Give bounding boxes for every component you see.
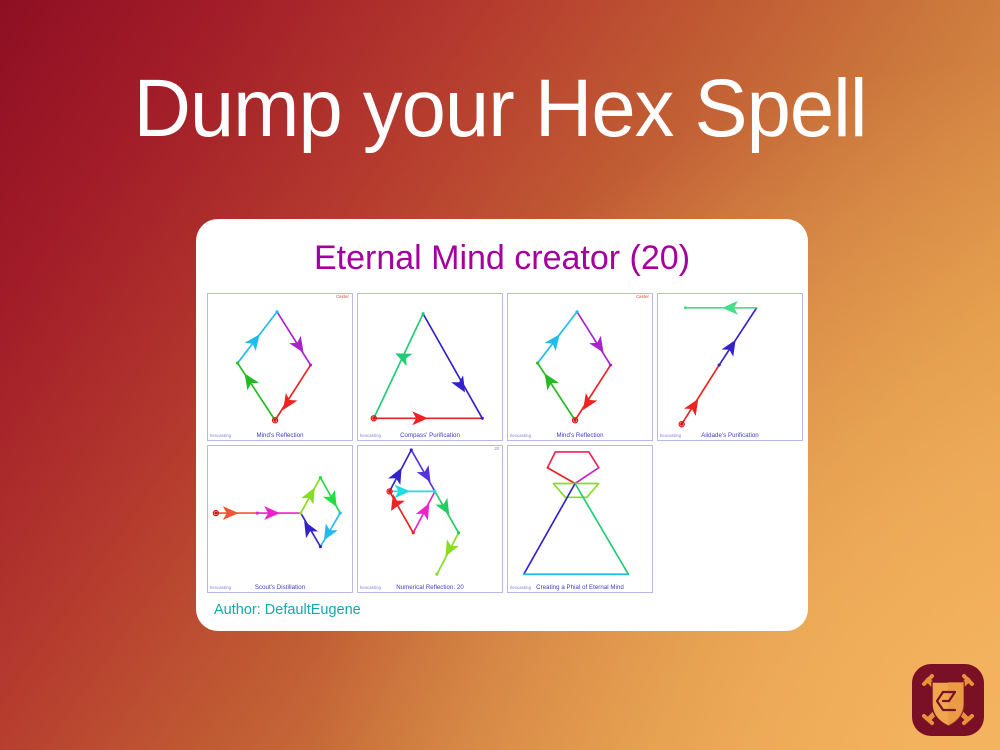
- pattern-card[interactable]: CasterhexcastingMind's Reflection: [207, 293, 353, 441]
- pattern-drawing: [358, 294, 502, 440]
- pattern-name-label: Mind's Reflection: [208, 433, 352, 439]
- spell-panel: Eternal Mind creator (20) Casterhexcasti…: [196, 219, 808, 631]
- pattern-drawing: [508, 446, 652, 592]
- pattern-name-label: Numerical Reflection: 20: [358, 585, 502, 591]
- pattern-drawing: [358, 446, 502, 592]
- page-title: Dump your Hex Spell: [15, 68, 985, 150]
- pattern-count-label: 20: [494, 447, 499, 451]
- pattern-card[interactable]: hexcastingAlidade's Purification: [657, 293, 803, 441]
- pattern-grid: CasterhexcastingMind's Reflectionhexcast…: [207, 293, 797, 593]
- pattern-name-label: Mind's Reflection: [508, 433, 652, 439]
- pattern-card[interactable]: hexcastingCreating a Phial of Eternal Mi…: [507, 445, 653, 593]
- pattern-name-label: Compass' Purification: [358, 433, 502, 439]
- pattern-caster-label: Caster: [336, 295, 349, 299]
- pattern-caster-label: Caster: [636, 295, 649, 299]
- pattern-name-label: Scout's Distillation: [208, 585, 352, 591]
- pattern-name-label: Creating a Phial of Eternal Mind: [508, 585, 652, 591]
- hex-casting-app-icon: [904, 656, 992, 744]
- author-label: Author: DefaultEugene: [214, 603, 361, 618]
- spell-panel-title: Eternal Mind creator (20): [196, 241, 808, 275]
- pattern-card[interactable]: CasterhexcastingMind's Reflection: [507, 293, 653, 441]
- pattern-drawing: [208, 294, 352, 440]
- pattern-card[interactable]: hexcastingCompass' Purification: [357, 293, 503, 441]
- pattern-name-label: Alidade's Purification: [658, 433, 802, 439]
- pattern-card[interactable]: 20hexcastingNumerical Reflection: 20: [357, 445, 503, 593]
- pattern-card[interactable]: hexcastingScout's Distillation: [207, 445, 353, 593]
- pattern-card-empty: [657, 445, 803, 593]
- pattern-drawing: [208, 446, 352, 592]
- pattern-drawing: [508, 294, 652, 440]
- pattern-drawing: [658, 294, 802, 440]
